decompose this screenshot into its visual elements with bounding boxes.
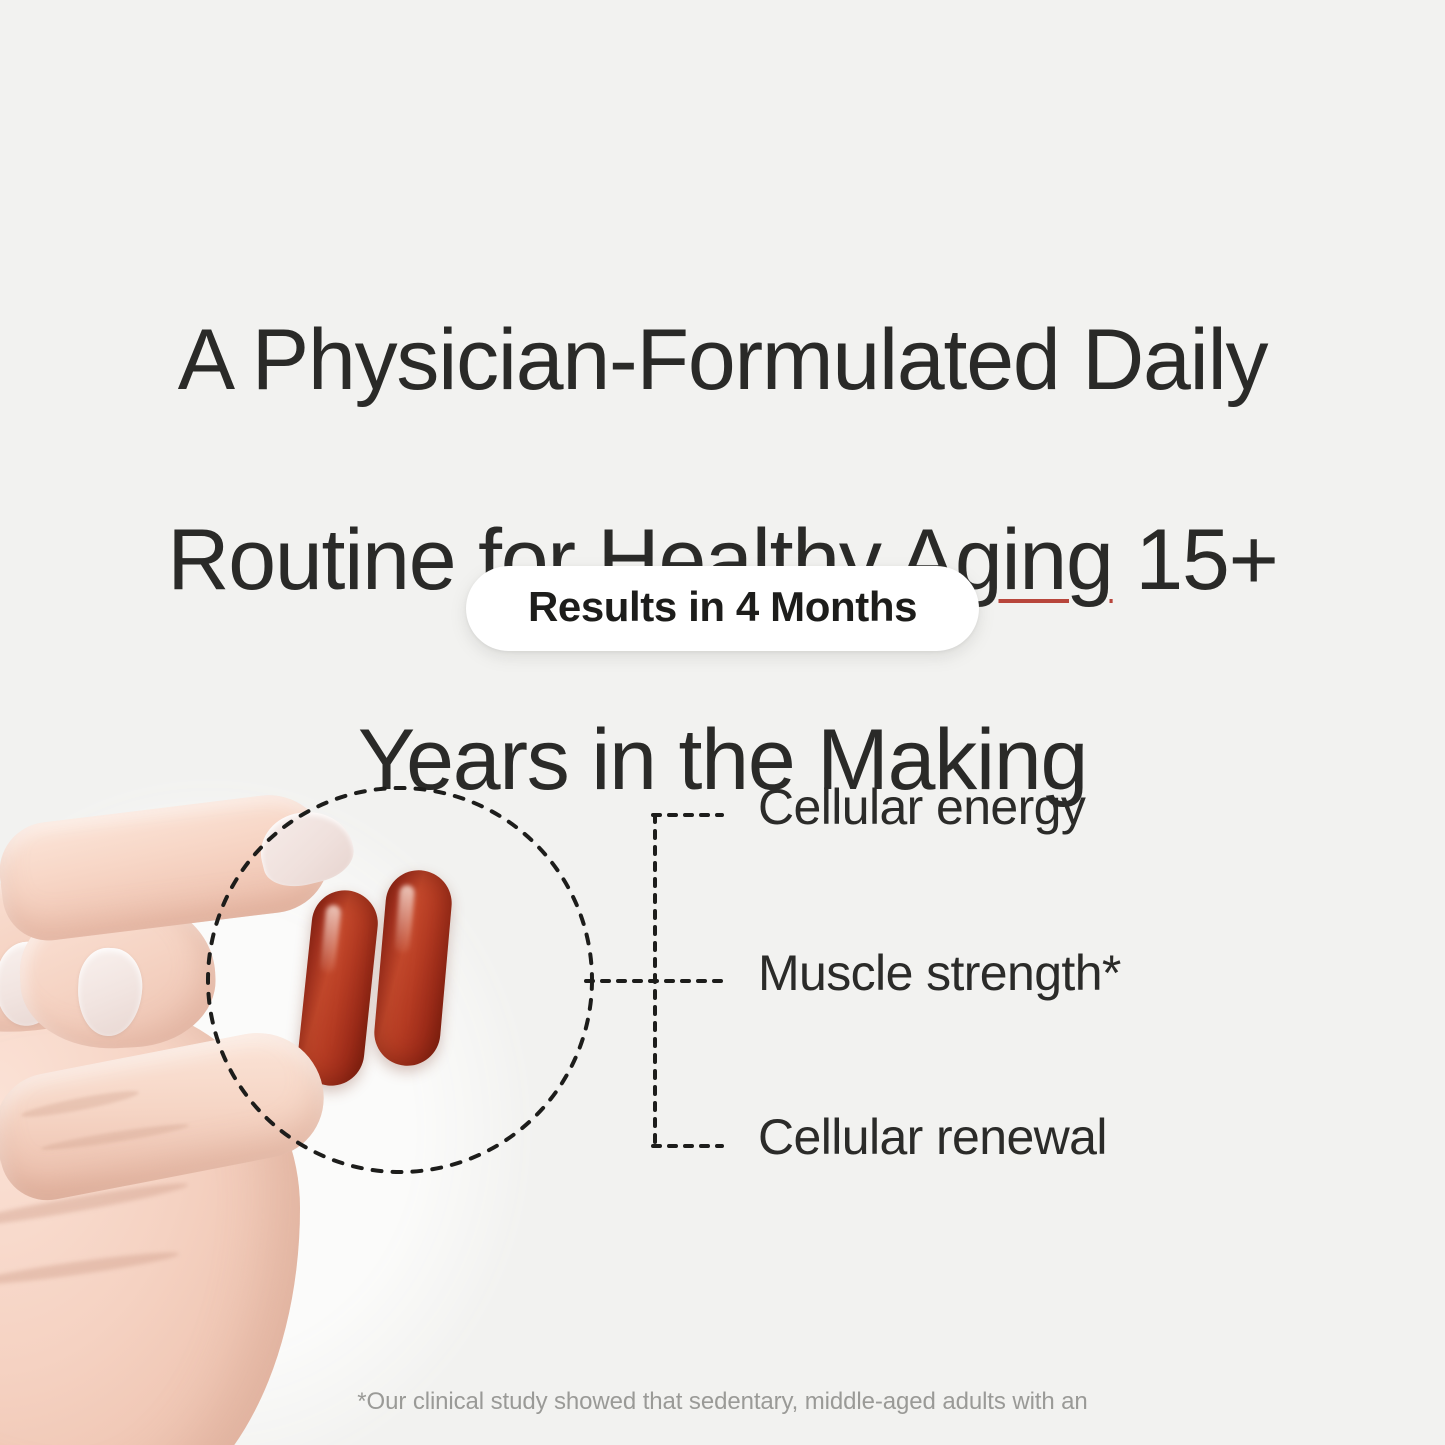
benefit-label-muscle-strength: Muscle strength* (758, 948, 1121, 998)
benefit-label-cellular-renewal: Cellular renewal (758, 1112, 1107, 1162)
footnote-disclaimer: *Our clinical study showed that sedentar… (0, 1348, 1445, 1445)
product-photo (0, 700, 660, 1445)
badge-container: Results in 4 Months (0, 566, 1445, 651)
marketing-panel: A Physician-Formulated Daily Routine for… (0, 0, 1445, 1445)
headline-line-1: A Physician-Formulated Daily (0, 310, 1445, 410)
benefit-label-cellular-energy: Cellular energy (758, 782, 1085, 832)
results-badge: Results in 4 Months (466, 566, 979, 651)
footnote-line-1: *Our clinical study showed that sedentar… (357, 1388, 1087, 1415)
